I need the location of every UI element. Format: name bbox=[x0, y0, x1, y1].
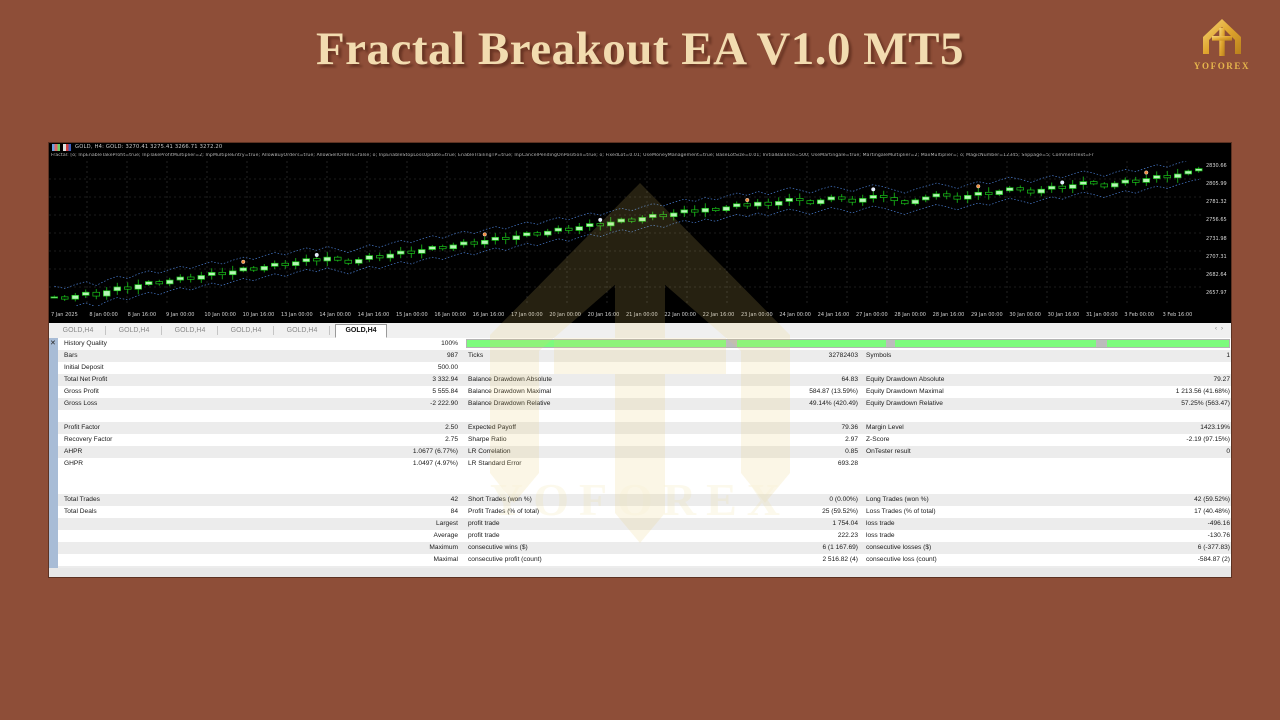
stat-label: History Quality bbox=[64, 338, 107, 350]
stat-value: 1 754.04 bbox=[658, 518, 858, 530]
stat-value: 1 213.56 (41.68%) bbox=[1038, 386, 1230, 398]
time-axis-label: 17 Jan 00:00 bbox=[511, 312, 543, 318]
history-quality-gap bbox=[886, 340, 895, 347]
stat-label: Margin Level bbox=[866, 422, 904, 434]
history-quality-bar bbox=[466, 339, 1230, 348]
close-icon[interactable]: ✕ bbox=[50, 340, 56, 347]
tab-separator bbox=[105, 326, 106, 335]
chart-tab[interactable]: GOLD,H4 bbox=[335, 324, 387, 338]
tab-separator bbox=[329, 326, 330, 335]
stat-label: LR Standard Error bbox=[468, 458, 522, 470]
time-axis-label: 23 Jan 00:00 bbox=[741, 312, 773, 318]
stat-value: -584.87 (2) bbox=[1038, 554, 1230, 566]
stat-value: -130.76 bbox=[1038, 530, 1230, 542]
stat-label: Ticks bbox=[468, 350, 483, 362]
stat-value: 79.27 bbox=[1038, 374, 1230, 386]
stat-value: 5 555.84 bbox=[258, 386, 458, 398]
chart-header-bar: GOLD, H4: GOLD: 3270.41 3275.41 3266.71 … bbox=[49, 143, 1231, 152]
table-row: Total Trades42Short Trades (won %)0 (0.0… bbox=[58, 494, 1231, 506]
stat-label: OnTester result bbox=[866, 446, 911, 458]
time-axis-label: 7 Jan 2025 bbox=[51, 312, 78, 318]
table-row: Bars987Ticks32782403Symbols1 bbox=[58, 350, 1231, 362]
stat-label: Initial Deposit bbox=[64, 362, 104, 374]
history-quality-gap bbox=[726, 340, 737, 347]
table-row: Gross Loss-2 222.90Balance Drawdown Rela… bbox=[58, 398, 1231, 410]
stat-value: 17 (40.48%) bbox=[1038, 506, 1230, 518]
chart-tab[interactable]: GOLD,H4 bbox=[111, 324, 157, 337]
report-gutter: ✕ bbox=[49, 338, 58, 578]
stat-label: consecutive loss (count) bbox=[866, 554, 937, 566]
time-axis-label: 10 Jan 00:00 bbox=[204, 312, 236, 318]
time-axis: 7 Jan 20258 Jan 00:008 Jan 16:009 Jan 00… bbox=[49, 312, 1231, 321]
time-axis-label: 8 Jan 00:00 bbox=[89, 312, 117, 318]
time-axis-label: 20 Jan 16:00 bbox=[588, 312, 620, 318]
statistics-table: History Quality100%Bars987Ticks32782403S… bbox=[58, 338, 1231, 578]
stat-value: Largest bbox=[258, 518, 458, 530]
table-row: Total Net Profit3 332.94Balance Drawdown… bbox=[58, 374, 1231, 386]
time-axis-label: 15 Jan 00:00 bbox=[396, 312, 428, 318]
history-quality-bar-fill bbox=[467, 340, 1229, 347]
stat-label: Balance Drawdown Absolute bbox=[468, 374, 552, 386]
time-axis-label: 14 Jan 00:00 bbox=[319, 312, 351, 318]
table-row: Recovery Factor2.75Sharpe Ratio2.97Z-Sco… bbox=[58, 434, 1231, 446]
stat-value: Maximum bbox=[258, 542, 458, 554]
stat-label: consecutive losses ($) bbox=[866, 542, 931, 554]
stat-value: -496.16 bbox=[1038, 518, 1230, 530]
stat-label: Profit Trades (% of total) bbox=[468, 506, 539, 518]
price-axis-label: 2731.98 bbox=[1206, 236, 1227, 242]
chart-tab[interactable]: GOLD,H4 bbox=[55, 324, 101, 337]
table-row: Largestprofit trade1 754.04loss trade-49… bbox=[58, 518, 1231, 530]
table-spacer-row bbox=[58, 470, 1231, 482]
time-axis-label: 22 Jan 00:00 bbox=[664, 312, 696, 318]
stat-value: 0 bbox=[1038, 446, 1230, 458]
table-row: Maximalconsecutive profit (count)2 516.8… bbox=[58, 554, 1231, 566]
time-axis-label: 14 Jan 16:00 bbox=[358, 312, 390, 318]
brand-logo: YOFOREX bbox=[1186, 16, 1258, 78]
time-axis-label: 28 Jan 16:00 bbox=[933, 312, 965, 318]
stat-value: 32782403 bbox=[658, 350, 858, 362]
stat-label: Total Net Profit bbox=[64, 374, 107, 386]
price-axis-label: 2707.31 bbox=[1206, 254, 1227, 260]
table-spacer-row bbox=[58, 482, 1231, 494]
stat-value: 1 bbox=[1038, 350, 1230, 362]
stat-value: 3 332.94 bbox=[258, 374, 458, 386]
price-axis-label: 2830.66 bbox=[1206, 163, 1227, 169]
stat-label: profit trade bbox=[468, 530, 500, 542]
stat-value: 49.14% (420.49) bbox=[658, 398, 858, 410]
time-axis-label: 8 Jan 16:00 bbox=[128, 312, 156, 318]
time-axis-label: 27 Jan 00:00 bbox=[856, 312, 888, 318]
chart-template-icon[interactable] bbox=[63, 144, 71, 151]
time-axis-label: 31 Jan 00:00 bbox=[1086, 312, 1118, 318]
chart-mode-icon[interactable] bbox=[52, 144, 60, 151]
stat-label: Symbols bbox=[866, 350, 891, 362]
stat-value: 584.87 (13.59%) bbox=[658, 386, 858, 398]
time-axis-label: 3 Feb 16:00 bbox=[1163, 312, 1193, 318]
tab-separator bbox=[273, 326, 274, 335]
stat-value: 500.00 bbox=[258, 362, 458, 374]
stat-label: Balance Drawdown Relative bbox=[468, 398, 550, 410]
yoforex-arrow-logo-icon bbox=[1199, 16, 1245, 60]
stat-value: 222.23 bbox=[658, 530, 858, 542]
stat-label: consecutive profit (count) bbox=[468, 554, 542, 566]
backtest-report: ✕ History Quality100%Bars987Ticks3278240… bbox=[49, 338, 1231, 578]
stat-value: 84 bbox=[258, 506, 458, 518]
price-axis-label: 2781.32 bbox=[1206, 199, 1227, 205]
stat-value: 64.83 bbox=[658, 374, 858, 386]
time-axis-label: 13 Jan 00:00 bbox=[281, 312, 313, 318]
stat-value: 100% bbox=[258, 338, 458, 350]
chart-panel[interactable]: GOLD, H4: GOLD: 3270.41 3275.41 3266.71 … bbox=[49, 143, 1231, 323]
stat-label: Short Trades (won %) bbox=[468, 494, 532, 506]
chart-plot-area bbox=[49, 161, 1204, 306]
stat-value: 2.97 bbox=[658, 434, 858, 446]
stat-value: 42 (59.52%) bbox=[1038, 494, 1230, 506]
chart-symbol-quote: GOLD, H4: GOLD: 3270.41 3275.41 3266.71 … bbox=[75, 144, 222, 150]
table-row: Initial Deposit500.00 bbox=[58, 362, 1231, 374]
ea-parameters-line: Fractal: [o; InpEnableTakeProfit=true; I… bbox=[51, 153, 1231, 158]
stat-label: LR Correlation bbox=[468, 446, 511, 458]
time-axis-label: 30 Jan 16:00 bbox=[1048, 312, 1080, 318]
stat-value: 0 (0.00%) bbox=[658, 494, 858, 506]
stat-label: Gross Loss bbox=[64, 398, 97, 410]
chart-tab-bar[interactable]: ‹› GOLD,H4GOLD,H4GOLD,H4GOLD,H4GOLD,H4GO… bbox=[49, 323, 1231, 339]
time-axis-label: 24 Jan 00:00 bbox=[779, 312, 811, 318]
stat-value: 987 bbox=[258, 350, 458, 362]
time-axis-label: 3 Feb 00:00 bbox=[1124, 312, 1154, 318]
time-axis-label: 21 Jan 00:00 bbox=[626, 312, 658, 318]
stat-label: GHPR bbox=[64, 458, 83, 470]
stat-label: consecutive wins ($) bbox=[468, 542, 528, 554]
stat-value: 79.36 bbox=[658, 422, 858, 434]
mt5-terminal-window: GOLD, H4: GOLD: 3270.41 3275.41 3266.71 … bbox=[48, 142, 1232, 578]
stat-label: AHPR bbox=[64, 446, 82, 458]
tab-nav-arrows[interactable]: ‹› bbox=[1215, 326, 1227, 332]
stat-value: 42 bbox=[258, 494, 458, 506]
price-axis-label: 2756.65 bbox=[1206, 217, 1227, 223]
time-axis-label: 30 Jan 00:00 bbox=[1009, 312, 1041, 318]
stat-value: Maximal bbox=[258, 554, 458, 566]
stat-label: Balance Drawdown Maximal bbox=[468, 386, 551, 398]
chart-tab[interactable]: GOLD,H4 bbox=[223, 324, 269, 337]
stat-value: 2.75 bbox=[258, 434, 458, 446]
stat-value: 2 516.82 (4) bbox=[658, 554, 858, 566]
tab-separator bbox=[217, 326, 218, 335]
time-axis-label: 16 Jan 16:00 bbox=[473, 312, 505, 318]
chart-tab[interactable]: GOLD,H4 bbox=[279, 324, 325, 337]
table-row: GHPR1.0497 (4.97%)LR Standard Error693.2… bbox=[58, 458, 1231, 470]
table-spacer-row bbox=[58, 410, 1231, 422]
stat-label: Loss Trades (% of total) bbox=[866, 506, 936, 518]
table-row: Total Deals84Profit Trades (% of total)2… bbox=[58, 506, 1231, 518]
price-axis-label: 2657.97 bbox=[1206, 290, 1227, 296]
stat-value: -2.19 (97.15%) bbox=[1038, 434, 1230, 446]
stat-label: Total Trades bbox=[64, 494, 100, 506]
stat-value: 6 (-377.83) bbox=[1038, 542, 1230, 554]
time-axis-label: 20 Jan 00:00 bbox=[549, 312, 581, 318]
stat-value: Average bbox=[258, 530, 458, 542]
stat-value: 2.50 bbox=[258, 422, 458, 434]
stat-label: Bars bbox=[64, 350, 78, 362]
table-row: Averageprofit trade222.23loss trade-130.… bbox=[58, 530, 1231, 542]
stat-value: 6 (1 167.69) bbox=[658, 542, 858, 554]
page-header: Fractal Breakout EA V1.0 MT5 YOFOREX bbox=[0, 0, 1280, 110]
table-row: AHPR1.0677 (6.77%)LR Correlation0.85OnTe… bbox=[58, 446, 1231, 458]
report-bottom-strip bbox=[49, 568, 1231, 578]
time-axis-label: 22 Jan 16:00 bbox=[703, 312, 735, 318]
time-axis-label: 16 Jan 00:00 bbox=[434, 312, 466, 318]
stat-label: Z-Score bbox=[866, 434, 889, 446]
stat-value: -2 222.90 bbox=[258, 398, 458, 410]
time-axis-label: 9 Jan 00:00 bbox=[166, 312, 194, 318]
page-title: Fractal Breakout EA V1.0 MT5 bbox=[0, 22, 1280, 76]
table-row: Profit Factor2.50Expected Payoff79.36Mar… bbox=[58, 422, 1231, 434]
tab-nav-right-icon[interactable]: › bbox=[1221, 326, 1227, 332]
time-axis-label: 10 Jan 16:00 bbox=[243, 312, 275, 318]
price-axis: 2830.662805.992781.322756.652731.982707.… bbox=[1204, 161, 1231, 306]
time-axis-label: 28 Jan 00:00 bbox=[894, 312, 926, 318]
table-row: History Quality100% bbox=[58, 338, 1231, 350]
stat-label: Profit Factor bbox=[64, 422, 100, 434]
table-row: Maximumconsecutive wins ($)6 (1 167.69)c… bbox=[58, 542, 1231, 554]
price-axis-label: 2805.99 bbox=[1206, 181, 1227, 187]
stat-label: Equity Drawdown Maximal bbox=[866, 386, 944, 398]
stat-value: 693.28 bbox=[658, 458, 858, 470]
time-axis-label: 29 Jan 00:00 bbox=[971, 312, 1003, 318]
logo-text: YOFOREX bbox=[1186, 61, 1258, 71]
stat-value: 25 (59.52%) bbox=[658, 506, 858, 518]
stat-label: Gross Profit bbox=[64, 386, 99, 398]
stat-label: Equity Drawdown Absolute bbox=[866, 374, 944, 386]
tab-separator bbox=[161, 326, 162, 335]
chart-tab[interactable]: GOLD,H4 bbox=[167, 324, 213, 337]
stat-label: Total Deals bbox=[64, 506, 97, 518]
stat-value: 1.0497 (4.97%) bbox=[258, 458, 458, 470]
price-axis-label: 2682.64 bbox=[1206, 272, 1227, 278]
stat-value: 1.0677 (6.77%) bbox=[258, 446, 458, 458]
stat-label: loss trade bbox=[866, 530, 895, 542]
stat-value: 1423.19% bbox=[1038, 422, 1230, 434]
stat-label: Sharpe Ratio bbox=[468, 434, 507, 446]
stat-label: profit trade bbox=[468, 518, 500, 530]
stat-value: 57.25% (563.47) bbox=[1038, 398, 1230, 410]
time-axis-label: 24 Jan 16:00 bbox=[818, 312, 850, 318]
stat-value: 0.85 bbox=[658, 446, 858, 458]
stat-label: loss trade bbox=[866, 518, 895, 530]
stat-label: Recovery Factor bbox=[64, 434, 112, 446]
stat-label: Equity Drawdown Relative bbox=[866, 398, 943, 410]
stat-label: Expected Payoff bbox=[468, 422, 516, 434]
history-quality-gap bbox=[1096, 340, 1107, 347]
stat-label: Long Trades (won %) bbox=[866, 494, 929, 506]
table-row: Gross Profit5 555.84Balance Drawdown Max… bbox=[58, 386, 1231, 398]
